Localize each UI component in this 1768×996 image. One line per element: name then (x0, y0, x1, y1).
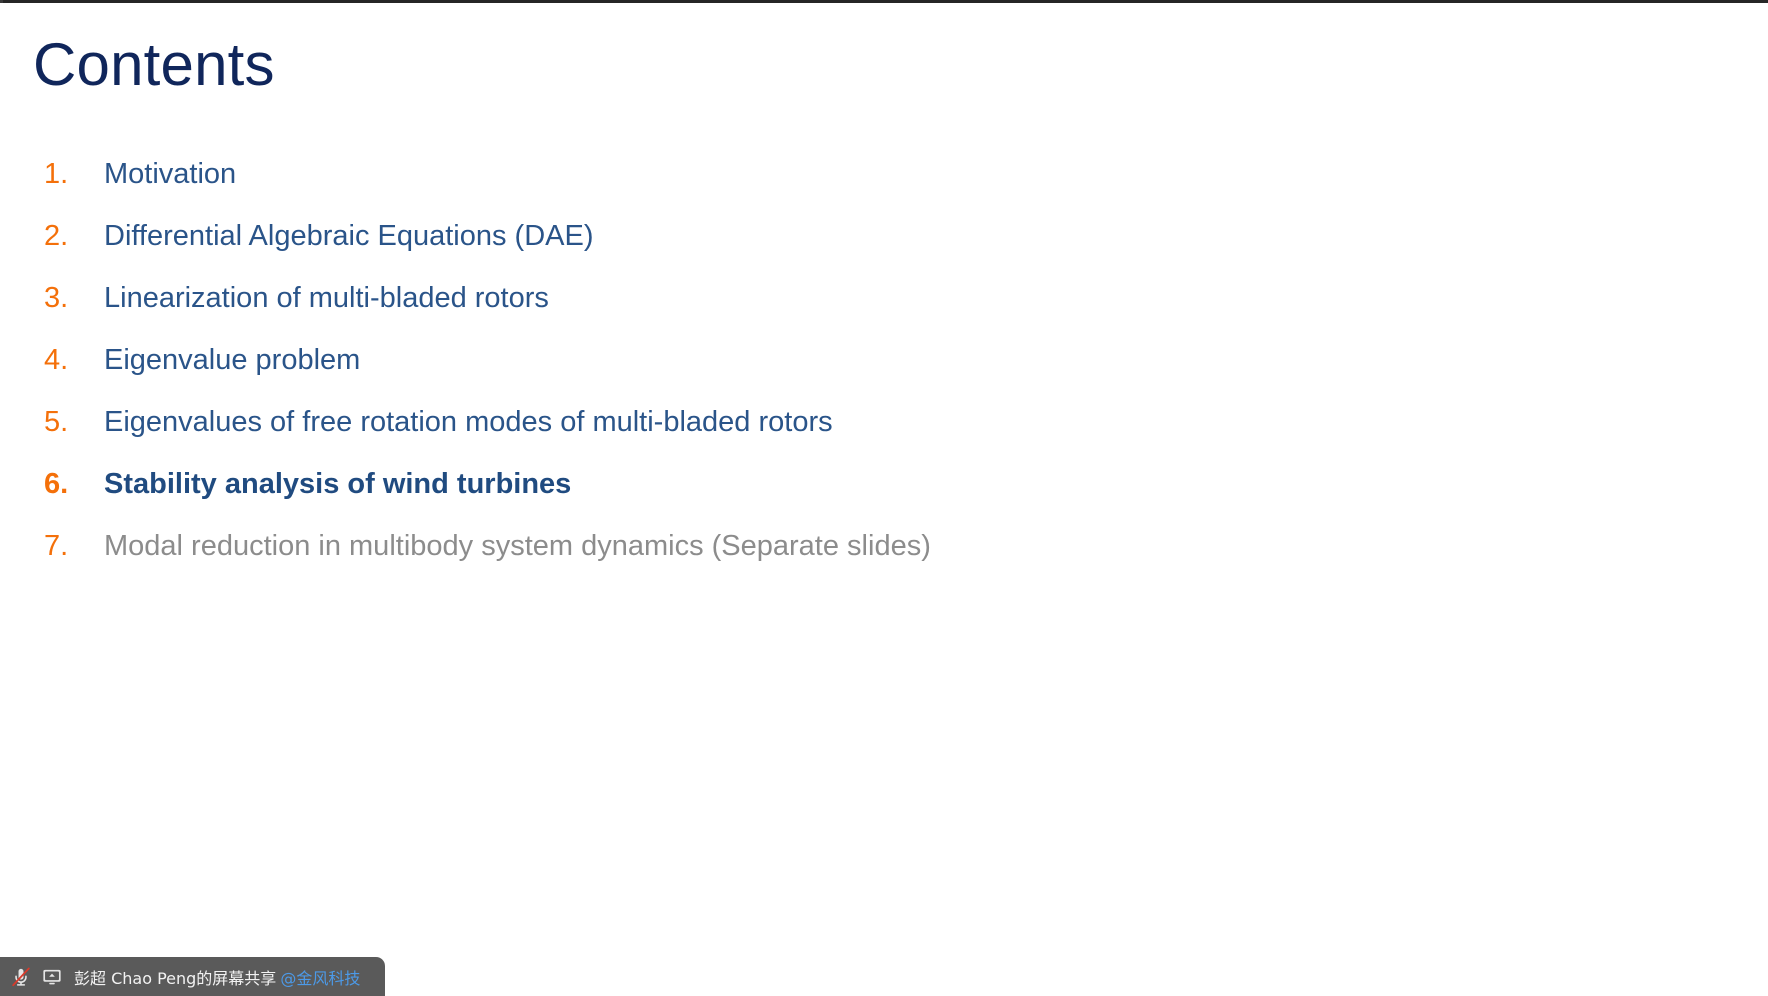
list-item[interactable]: 4. Eigenvalue problem (0, 329, 1768, 391)
shared-screen: Contents 1. Motivation 2. Differential A… (0, 0, 1768, 996)
presentation-slide: Contents 1. Motivation 2. Differential A… (0, 3, 1768, 960)
list-item-number: 5. (44, 405, 90, 439)
contents-list: 1. Motivation 2. Differential Algebraic … (0, 143, 1768, 577)
screen-share-status-bar[interactable]: 彭超 Chao Peng的屏幕共享 @金风科技 (0, 957, 385, 996)
list-item-active[interactable]: 6. Stability analysis of wind turbines (0, 453, 1768, 515)
list-item[interactable]: 5. Eigenvalues of free rotation modes of… (0, 391, 1768, 453)
list-item[interactable]: 2. Differential Algebraic Equations (DAE… (0, 205, 1768, 267)
list-item-label: Motivation (104, 157, 236, 191)
screen-share-icon[interactable] (39, 964, 65, 990)
list-item-label: Eigenvalue problem (104, 343, 360, 377)
list-item-label: Stability analysis of wind turbines (104, 467, 571, 501)
list-item-label: Linearization of multi-bladed rotors (104, 281, 549, 315)
list-item-number: 4. (44, 343, 90, 377)
list-item-number: 6. (44, 467, 90, 501)
share-owner-label: 彭超 Chao Peng的屏幕共享 (74, 965, 276, 989)
list-item[interactable]: 1. Motivation (0, 143, 1768, 205)
list-item-number: 1. (44, 157, 90, 191)
microphone-muted-icon[interactable] (8, 964, 34, 990)
list-item-label: Differential Algebraic Equations (DAE) (104, 219, 594, 253)
list-item[interactable]: 3. Linearization of multi-bladed rotors (0, 267, 1768, 329)
list-item-number: 7. (44, 529, 90, 563)
share-org-label: @金风科技 (280, 965, 360, 989)
list-item-number: 3. (44, 281, 90, 315)
list-item-label: Modal reduction in multibody system dyna… (104, 529, 931, 563)
list-item-number: 2. (44, 219, 90, 253)
list-item-label: Eigenvalues of free rotation modes of mu… (104, 405, 833, 439)
list-item-muted[interactable]: 7. Modal reduction in multibody system d… (0, 515, 1768, 577)
page-title: Contents (33, 30, 275, 100)
